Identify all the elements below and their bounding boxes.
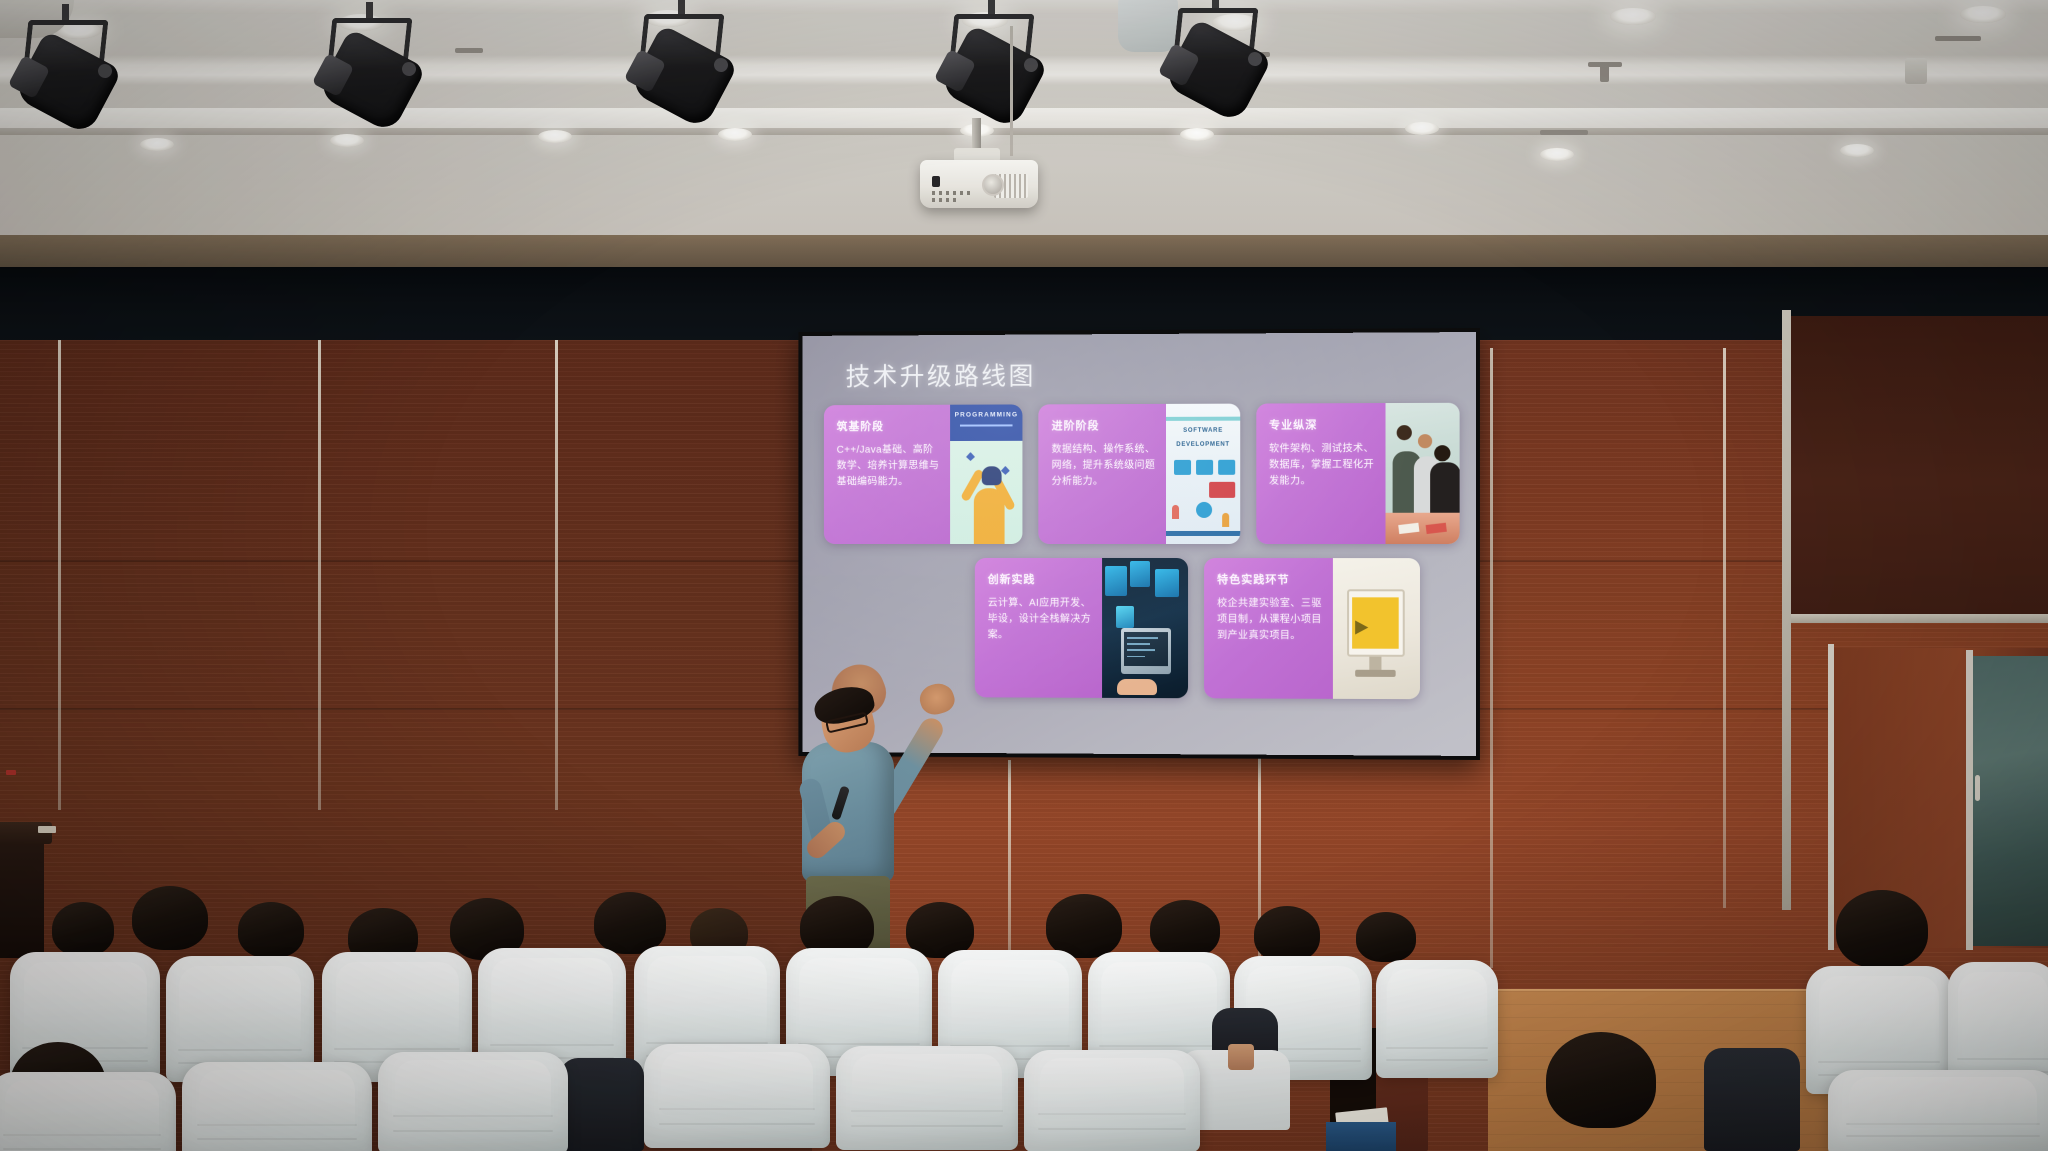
stage-light bbox=[944, 14, 1040, 132]
ceiling-pipe bbox=[1588, 62, 1622, 67]
indicator-light bbox=[6, 770, 16, 775]
audience-chair bbox=[1376, 960, 1498, 1078]
downlight bbox=[538, 130, 572, 143]
audience-head bbox=[52, 902, 114, 956]
wall-seam bbox=[318, 340, 321, 810]
door-frame bbox=[1791, 614, 2048, 623]
card-heading: 创新实践 bbox=[988, 571, 1092, 587]
downlight bbox=[1610, 8, 1656, 25]
audience-chair bbox=[1024, 1050, 1200, 1151]
laptop-chart-photo-icon bbox=[1333, 558, 1420, 699]
slide-card-grid: 筑基阶段 C++/Java基础、高阶数学、培养计算思维与基础编码能力。 PROG… bbox=[824, 403, 1460, 714]
card-text-block: 进阶阶段 数据结构、操作系统、网络，提升系统级问题分析能力。 bbox=[1039, 404, 1167, 544]
lectern bbox=[0, 838, 44, 958]
stage-light bbox=[1168, 8, 1264, 126]
wall-seam bbox=[1008, 760, 1011, 970]
card-text-block: 筑基阶段 C++/Java基础、高阶数学、培养计算思维与基础编码能力。 bbox=[824, 405, 950, 544]
poster-caption-line1: SOFTWARE bbox=[1172, 427, 1234, 433]
slide-card-innovation: 创新实践 云计算、AI应用开发、毕设，设计全栈解决方案。 bbox=[975, 558, 1188, 698]
card-body: 数据结构、操作系统、网络，提升系统级问题分析能力。 bbox=[1052, 442, 1157, 491]
card-heading: 专业纵深 bbox=[1269, 416, 1375, 432]
audience-head bbox=[132, 886, 208, 950]
audience-head bbox=[594, 892, 666, 954]
door-transom bbox=[1791, 316, 2048, 616]
ceiling-pipe bbox=[1935, 36, 1981, 41]
lecture-hall-scene: 技术升级路线图 筑基阶段 C++/Java基础、高阶数学、培养计算思维与基础编码… bbox=[0, 0, 2048, 1151]
card-body: C++/Java基础、高阶数学、培养计算思维与基础编码能力。 bbox=[837, 443, 941, 491]
audience-head bbox=[238, 902, 304, 958]
card-text-block: 创新实践 云计算、AI应用开发、毕设，设计全栈解决方案。 bbox=[975, 558, 1102, 698]
poster-caption-line2: DEVELOPMENT bbox=[1172, 442, 1234, 448]
downlight bbox=[1180, 128, 1214, 141]
card-row-bottom: 创新实践 云计算、AI应用开发、毕设，设计全栈解决方案。 bbox=[824, 558, 1460, 699]
card-body: 云计算、AI应用开发、毕设，设计全栈解决方案。 bbox=[988, 596, 1092, 645]
card-text-block: 专业纵深 软件架构、测试技术、数据库，掌握工程化开发能力。 bbox=[1256, 403, 1385, 544]
ceiling-pipe bbox=[1540, 130, 1588, 135]
audience-chair bbox=[1828, 1070, 2048, 1151]
downlight bbox=[1960, 6, 2006, 23]
slide-card-practice: 特色实践环节 校企共建实验室、三驱项目制，从课程小项目到产业真实项目。 bbox=[1204, 558, 1420, 699]
ceiling-pipe bbox=[455, 48, 483, 53]
card-body: 校企共建实验室、三驱项目制，从课程小项目到产业真实项目。 bbox=[1217, 596, 1323, 645]
audience-chair bbox=[644, 1044, 830, 1148]
team-collaboration-photo-icon bbox=[1385, 403, 1459, 544]
audience-head bbox=[1150, 900, 1220, 958]
downlight bbox=[1840, 144, 1874, 157]
card-row-top: 筑基阶段 C++/Java基础、高阶数学、培养计算思维与基础编码能力。 PROG… bbox=[824, 403, 1460, 544]
wall-cornice bbox=[0, 235, 2048, 267]
slide-title: 技术升级路线图 bbox=[846, 357, 1036, 394]
audience-shoulder bbox=[1704, 1048, 1800, 1151]
audience-head bbox=[1356, 912, 1416, 962]
audience-chair bbox=[836, 1046, 1018, 1150]
slide-card-specialization: 专业纵深 软件架构、测试技术、数据库，掌握工程化开发能力。 bbox=[1256, 403, 1460, 544]
ceiling-vent bbox=[1905, 58, 1927, 84]
software-development-poster-icon: SOFTWARE DEVELOPMENT bbox=[1166, 404, 1240, 544]
wall-seam bbox=[1490, 348, 1493, 968]
door-handle[interactable] bbox=[1975, 775, 1980, 801]
stage-light bbox=[322, 18, 418, 136]
audience-head bbox=[1046, 894, 1122, 958]
slide-card-foundation: 筑基阶段 C++/Java基础、高阶数学、培养计算思维与基础编码能力。 PROG… bbox=[824, 404, 1023, 544]
audience-head bbox=[1546, 1032, 1656, 1128]
wall-seam bbox=[58, 340, 61, 810]
audience-arm bbox=[1228, 1044, 1254, 1070]
downlight bbox=[1405, 122, 1439, 135]
downlight bbox=[1540, 148, 1574, 161]
lectern-label bbox=[38, 826, 56, 833]
blue-panel bbox=[1326, 1122, 1396, 1151]
door-mullion bbox=[1828, 644, 1834, 950]
card-body: 软件架构、测试技术、数据库，掌握工程化开发能力。 bbox=[1269, 441, 1375, 490]
wall-seam bbox=[1723, 348, 1726, 908]
suspension-wire bbox=[1010, 26, 1013, 156]
audience-shoulder bbox=[560, 1058, 644, 1151]
audience-chair bbox=[378, 1052, 568, 1151]
card-heading: 特色实践环节 bbox=[1217, 571, 1323, 587]
audience-head bbox=[1836, 890, 1928, 968]
downlight bbox=[140, 138, 174, 151]
slide-card-advanced: 进阶阶段 数据结构、操作系统、网络，提升系统级问题分析能力。 SOFTWARE … bbox=[1039, 404, 1240, 544]
door-mullion bbox=[1966, 650, 1973, 950]
stage-light bbox=[634, 14, 730, 132]
coding-workstation-photo-icon bbox=[1102, 558, 1188, 698]
door-frame bbox=[1782, 310, 1791, 910]
audience-chair bbox=[182, 1062, 372, 1151]
card-heading: 进阶阶段 bbox=[1052, 417, 1157, 433]
stage-light bbox=[18, 20, 114, 138]
programming-illustration-icon: PROGRAMMING bbox=[950, 404, 1023, 544]
wall-seam bbox=[555, 340, 558, 810]
illustration-caption: PROGRAMMING bbox=[950, 411, 1023, 418]
card-heading: 筑基阶段 bbox=[837, 418, 941, 434]
card-text-block: 特色实践环节 校企共建实验室、三驱项目制，从课程小项目到产业真实项目。 bbox=[1204, 558, 1333, 699]
audience-chair bbox=[0, 1072, 176, 1151]
audience-head bbox=[1254, 906, 1320, 962]
door-glass-panel bbox=[1972, 656, 2048, 946]
